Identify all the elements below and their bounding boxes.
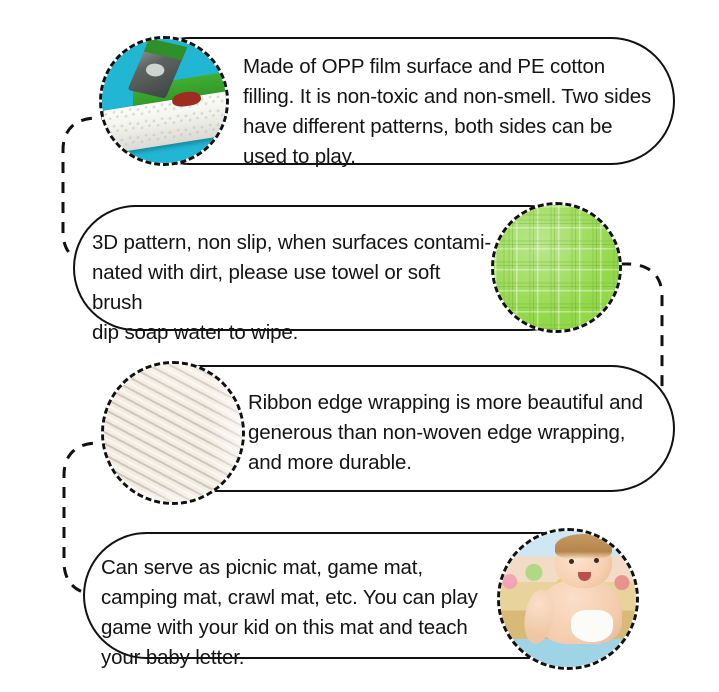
feature-panel-3-text: Ribbon edge wrapping is more beautiful a… [248,388,654,478]
feature-panel-4-text: Can serve as picnic mat, game mat, campi… [101,553,503,673]
feature-panel-2-text: 3D pattern, non slip, when surfaces cont… [92,228,494,348]
infographic-canvas: Made of OPP film surface and PE cotton f… [0,0,719,692]
ribbon-edge-photo [101,361,245,505]
baby-on-mat-photo [497,528,639,670]
foam-cross-section-photo [99,36,229,166]
green-3d-pattern-photo [491,202,622,333]
feature-panel-1-text: Made of OPP film surface and PE cotton f… [243,52,655,172]
